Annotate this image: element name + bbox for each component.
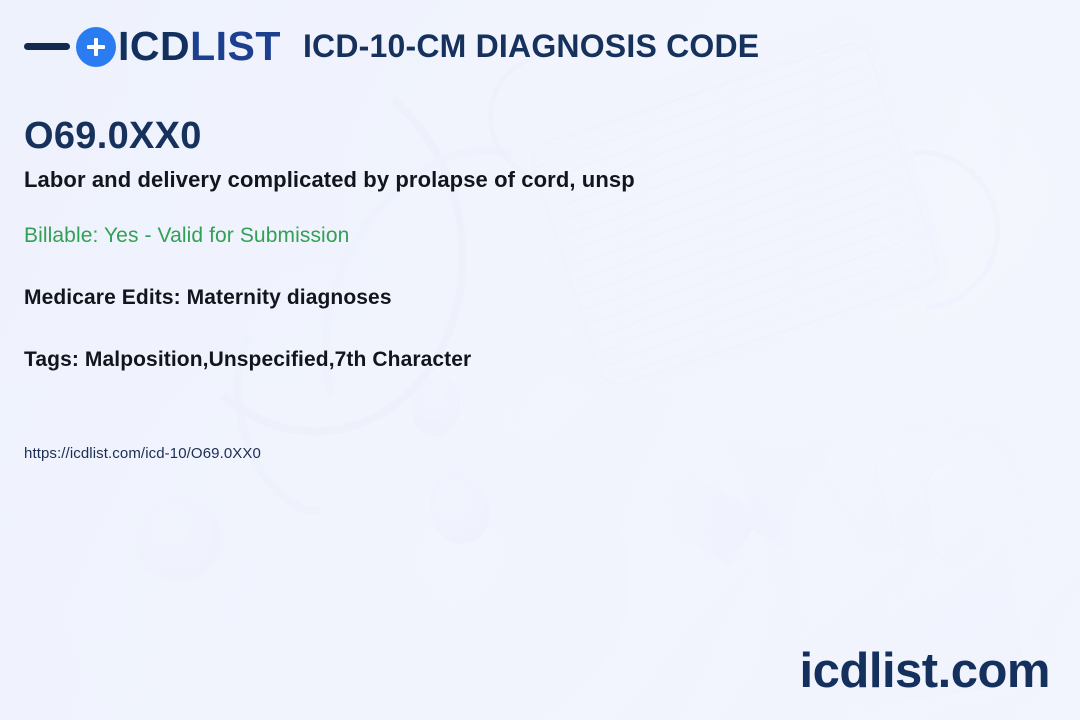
horizontal-dash-icon bbox=[24, 43, 70, 50]
diagnosis-code: O69.0XX0 bbox=[24, 117, 202, 155]
page-title: ICD-10-CM DIAGNOSIS CODE bbox=[303, 28, 759, 65]
plus-circle-icon bbox=[76, 27, 116, 67]
billable-status: Billable: Yes - Valid for Submission bbox=[24, 224, 349, 248]
icd-code-card: ICD LIST ICD-10-CM DIAGNOSIS CODE O69.0X… bbox=[0, 0, 1080, 720]
header: ICD LIST ICD-10-CM DIAGNOSIS CODE bbox=[24, 26, 759, 67]
diagnosis-description: Labor and delivery complicated by prolap… bbox=[24, 167, 635, 192]
tags-list: Tags: Malposition,Unspecified,7th Charac… bbox=[24, 348, 471, 372]
icdlist-logo[interactable]: ICD LIST bbox=[24, 26, 281, 67]
logo-text-icd: ICD bbox=[118, 26, 190, 67]
logo-text-list: LIST bbox=[190, 26, 281, 67]
medicare-edits: Medicare Edits: Maternity diagnoses bbox=[24, 286, 392, 310]
source-url[interactable]: https://icdlist.com/icd-10/O69.0XX0 bbox=[24, 445, 261, 462]
brand-footer: icdlist.com bbox=[800, 647, 1050, 696]
card-content: ICD LIST ICD-10-CM DIAGNOSIS CODE O69.0X… bbox=[0, 0, 1080, 720]
